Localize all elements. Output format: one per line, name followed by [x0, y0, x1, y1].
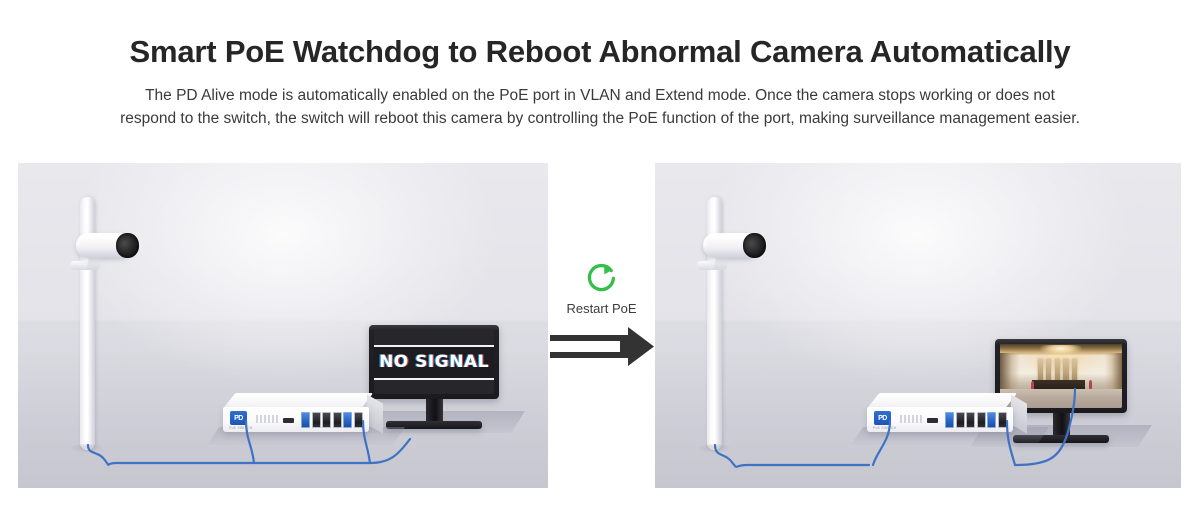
monitor-screen: NO SIGNAL: [374, 330, 494, 394]
feed-left-wall: [1000, 353, 1020, 390]
switch-mode-button[interactable]: [283, 418, 294, 423]
switch-model-label: PoE SWITCH: [873, 426, 896, 430]
switch-model-label: PoE SWITCH: [229, 426, 252, 430]
feed-right-wall: [1105, 353, 1122, 390]
subtitle-line-1: The PD Alive mode is automatically enabl…: [10, 84, 1190, 108]
switch-port-5[interactable]: [343, 412, 352, 428]
transition-indicator: Restart PoE: [548, 163, 655, 488]
monitor-bezel: NO SIGNAL: [369, 325, 499, 399]
restart-poe-label: Restart PoE: [548, 301, 655, 316]
pole-base-shadow: [697, 444, 731, 453]
switch-port-4[interactable]: [977, 412, 986, 428]
page-header: Smart PoE Watchdog to Reboot Abnormal Ca…: [0, 0, 1200, 131]
camera-lens-icon: [116, 233, 139, 258]
circular-refresh-arrow-icon: [585, 261, 619, 295]
monitor-neck: [1053, 413, 1070, 437]
page-subtitle: The PD Alive mode is automatically enabl…: [10, 84, 1190, 131]
panel-before-camera-offline: NO SIGNAL PD: [18, 163, 548, 488]
feed-person-1: [1031, 381, 1034, 389]
pole-base-shadow: [70, 444, 104, 453]
switch-port-6[interactable]: [354, 412, 363, 428]
no-signal-text: NO SIGNAL: [379, 352, 489, 372]
switch-port-2[interactable]: [956, 412, 965, 428]
right-arrow-icon: [548, 325, 656, 369]
switch-led-row: [256, 415, 278, 423]
feed-reception-desk: [1032, 380, 1086, 389]
switch-brand-badge: PD: [874, 411, 891, 425]
switch-port-3[interactable]: [966, 412, 975, 428]
switch-port-2[interactable]: [312, 412, 321, 428]
monitor-neck: [426, 399, 443, 423]
switch-port-4[interactable]: [333, 412, 342, 428]
switch-port-row: [945, 412, 1007, 428]
switch-brand-badge: PD: [230, 411, 247, 425]
switch-port-1[interactable]: [301, 412, 310, 428]
switch-led-row: [900, 415, 922, 423]
switch-port-6[interactable]: [998, 412, 1007, 428]
switch-port-5[interactable]: [987, 412, 996, 428]
subtitle-line-2: respond to the switch, the switch will r…: [10, 107, 1190, 131]
security-camera-icon: [68, 225, 142, 275]
switch-mode-button[interactable]: [927, 418, 938, 423]
panel-after-camera-rebooted: PD PoE SWITCH: [655, 163, 1181, 488]
feed-person-2: [1089, 380, 1092, 388]
switch-port-3[interactable]: [322, 412, 331, 428]
switch-port-1[interactable]: [945, 412, 954, 428]
security-camera-icon: [695, 225, 769, 275]
switch-front-face: PD PoE SWITCH: [867, 407, 1013, 432]
feed-chandelier: [1040, 345, 1081, 355]
no-signal-plate: NO SIGNAL: [374, 345, 494, 380]
camera-lens-icon: [743, 233, 766, 258]
switch-port-row: [301, 412, 363, 428]
page-title: Smart PoE Watchdog to Reboot Abnormal Ca…: [0, 34, 1200, 70]
switch-front-face: PD PoE SWITCH: [223, 407, 369, 432]
